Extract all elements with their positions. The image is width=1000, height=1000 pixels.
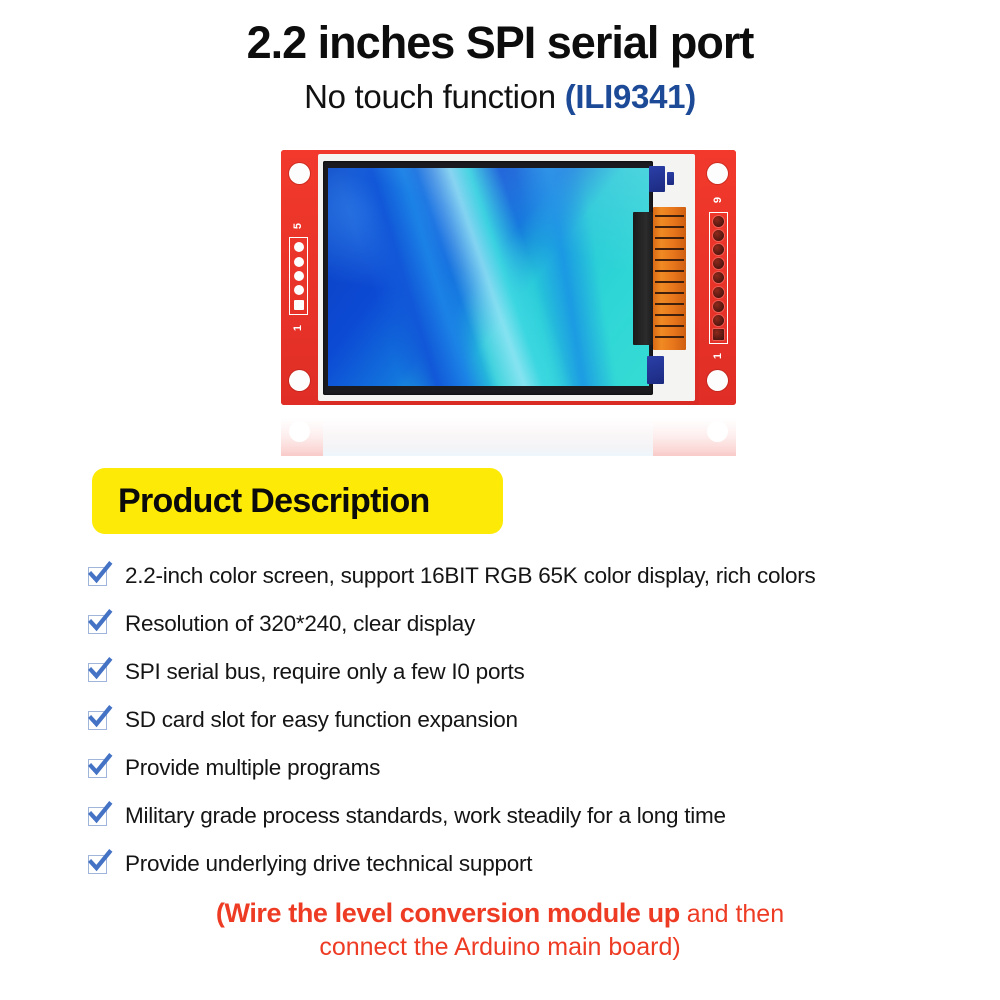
feature-text: SPI serial bus, require only a few I0 po… <box>125 659 524 685</box>
silkscreen-right-bottom: 1 <box>712 346 724 366</box>
flex-ribbon-cable <box>653 207 686 350</box>
pin-2 <box>713 315 724 326</box>
list-item: Provide underlying drive technical suppo… <box>88 840 948 888</box>
feature-text: Provide multiple programs <box>125 755 380 781</box>
page-header: 2.2 inches SPI serial port No touch func… <box>0 18 1000 116</box>
pin-6 <box>713 258 724 269</box>
mounting-hole-top-left <box>289 163 310 184</box>
feature-list: 2.2-inch color screen, support 16BIT RGB… <box>88 552 948 888</box>
smd-component-bottom <box>647 356 664 384</box>
pin-4 <box>713 287 724 298</box>
list-item: Provide multiple programs <box>88 744 948 792</box>
mounting-hole-bottom-left <box>289 370 310 391</box>
pad-1 <box>294 300 304 310</box>
footer-note: (Wire the level conversion module up and… <box>0 896 1000 963</box>
right-pin-header <box>709 212 728 344</box>
pad-2 <box>294 285 304 295</box>
lcd-screen <box>328 168 649 386</box>
checkmark-icon <box>88 565 110 587</box>
reflection-hole-right <box>707 421 728 442</box>
page-subtitle: No touch function (ILI9341) <box>0 79 1000 116</box>
pin-7 <box>713 244 724 255</box>
list-item: 2.2-inch color screen, support 16BIT RGB… <box>88 552 948 600</box>
reflection-hole-left <box>289 421 310 442</box>
silkscreen-right-top: 9 <box>712 190 724 210</box>
list-item: Military grade process standards, work s… <box>88 792 948 840</box>
list-item: Resolution of 320*240, clear display <box>88 600 948 648</box>
checkmark-icon <box>88 805 110 827</box>
left-pin-pads <box>289 237 308 315</box>
checkmark-icon <box>88 613 110 635</box>
pin-1 <box>713 329 724 340</box>
pin-8 <box>713 230 724 241</box>
list-item: SD card slot for easy function expansion <box>88 696 948 744</box>
footer-line-2: connect the Arduino main board) <box>0 931 1000 963</box>
mounting-hole-top-right <box>707 163 728 184</box>
product-photo-reflection <box>281 410 736 456</box>
footer-line-1: (Wire the level conversion module up and… <box>0 896 1000 931</box>
pad-4 <box>294 257 304 267</box>
footer-strong-text: (Wire the level conversion module up <box>216 898 680 928</box>
pad-5 <box>294 242 304 252</box>
fpc-connector <box>633 212 655 345</box>
pad-3 <box>294 271 304 281</box>
checkmark-icon <box>88 757 110 779</box>
feature-text: Military grade process standards, work s… <box>125 803 726 829</box>
footer-rest-text: and then <box>680 900 784 928</box>
list-item: SPI serial bus, require only a few I0 po… <box>88 648 948 696</box>
screen-glass-sheen <box>328 168 649 386</box>
pin-9 <box>713 216 724 227</box>
pin-5 <box>713 272 724 283</box>
pin-3 <box>713 301 724 312</box>
checkmark-icon <box>88 661 110 683</box>
silkscreen-left-bottom: 1 <box>292 318 304 338</box>
feature-text: 2.2-inch color screen, support 16BIT RGB… <box>125 563 815 589</box>
feature-text: Resolution of 320*240, clear display <box>125 611 475 637</box>
product-photo: 5 1 9 1 <box>281 150 736 412</box>
feature-text: SD card slot for easy function expansion <box>125 707 518 733</box>
checkmark-icon <box>88 853 110 875</box>
checkmark-icon <box>88 709 110 731</box>
smd-component-small <box>667 172 674 185</box>
mounting-hole-bottom-right <box>707 370 728 391</box>
subtitle-text: No touch function <box>304 78 565 115</box>
feature-text: Provide underlying drive technical suppo… <box>125 851 532 877</box>
banner-label: Product Description <box>118 482 430 521</box>
page-title: 2.2 inches SPI serial port <box>0 18 1000 68</box>
driver-chip-label: (ILI9341) <box>565 78 696 115</box>
smd-component-top <box>649 166 665 192</box>
product-description-banner: Product Description <box>92 468 503 534</box>
reflection-screen <box>323 410 653 456</box>
silkscreen-left-top: 5 <box>292 216 304 236</box>
